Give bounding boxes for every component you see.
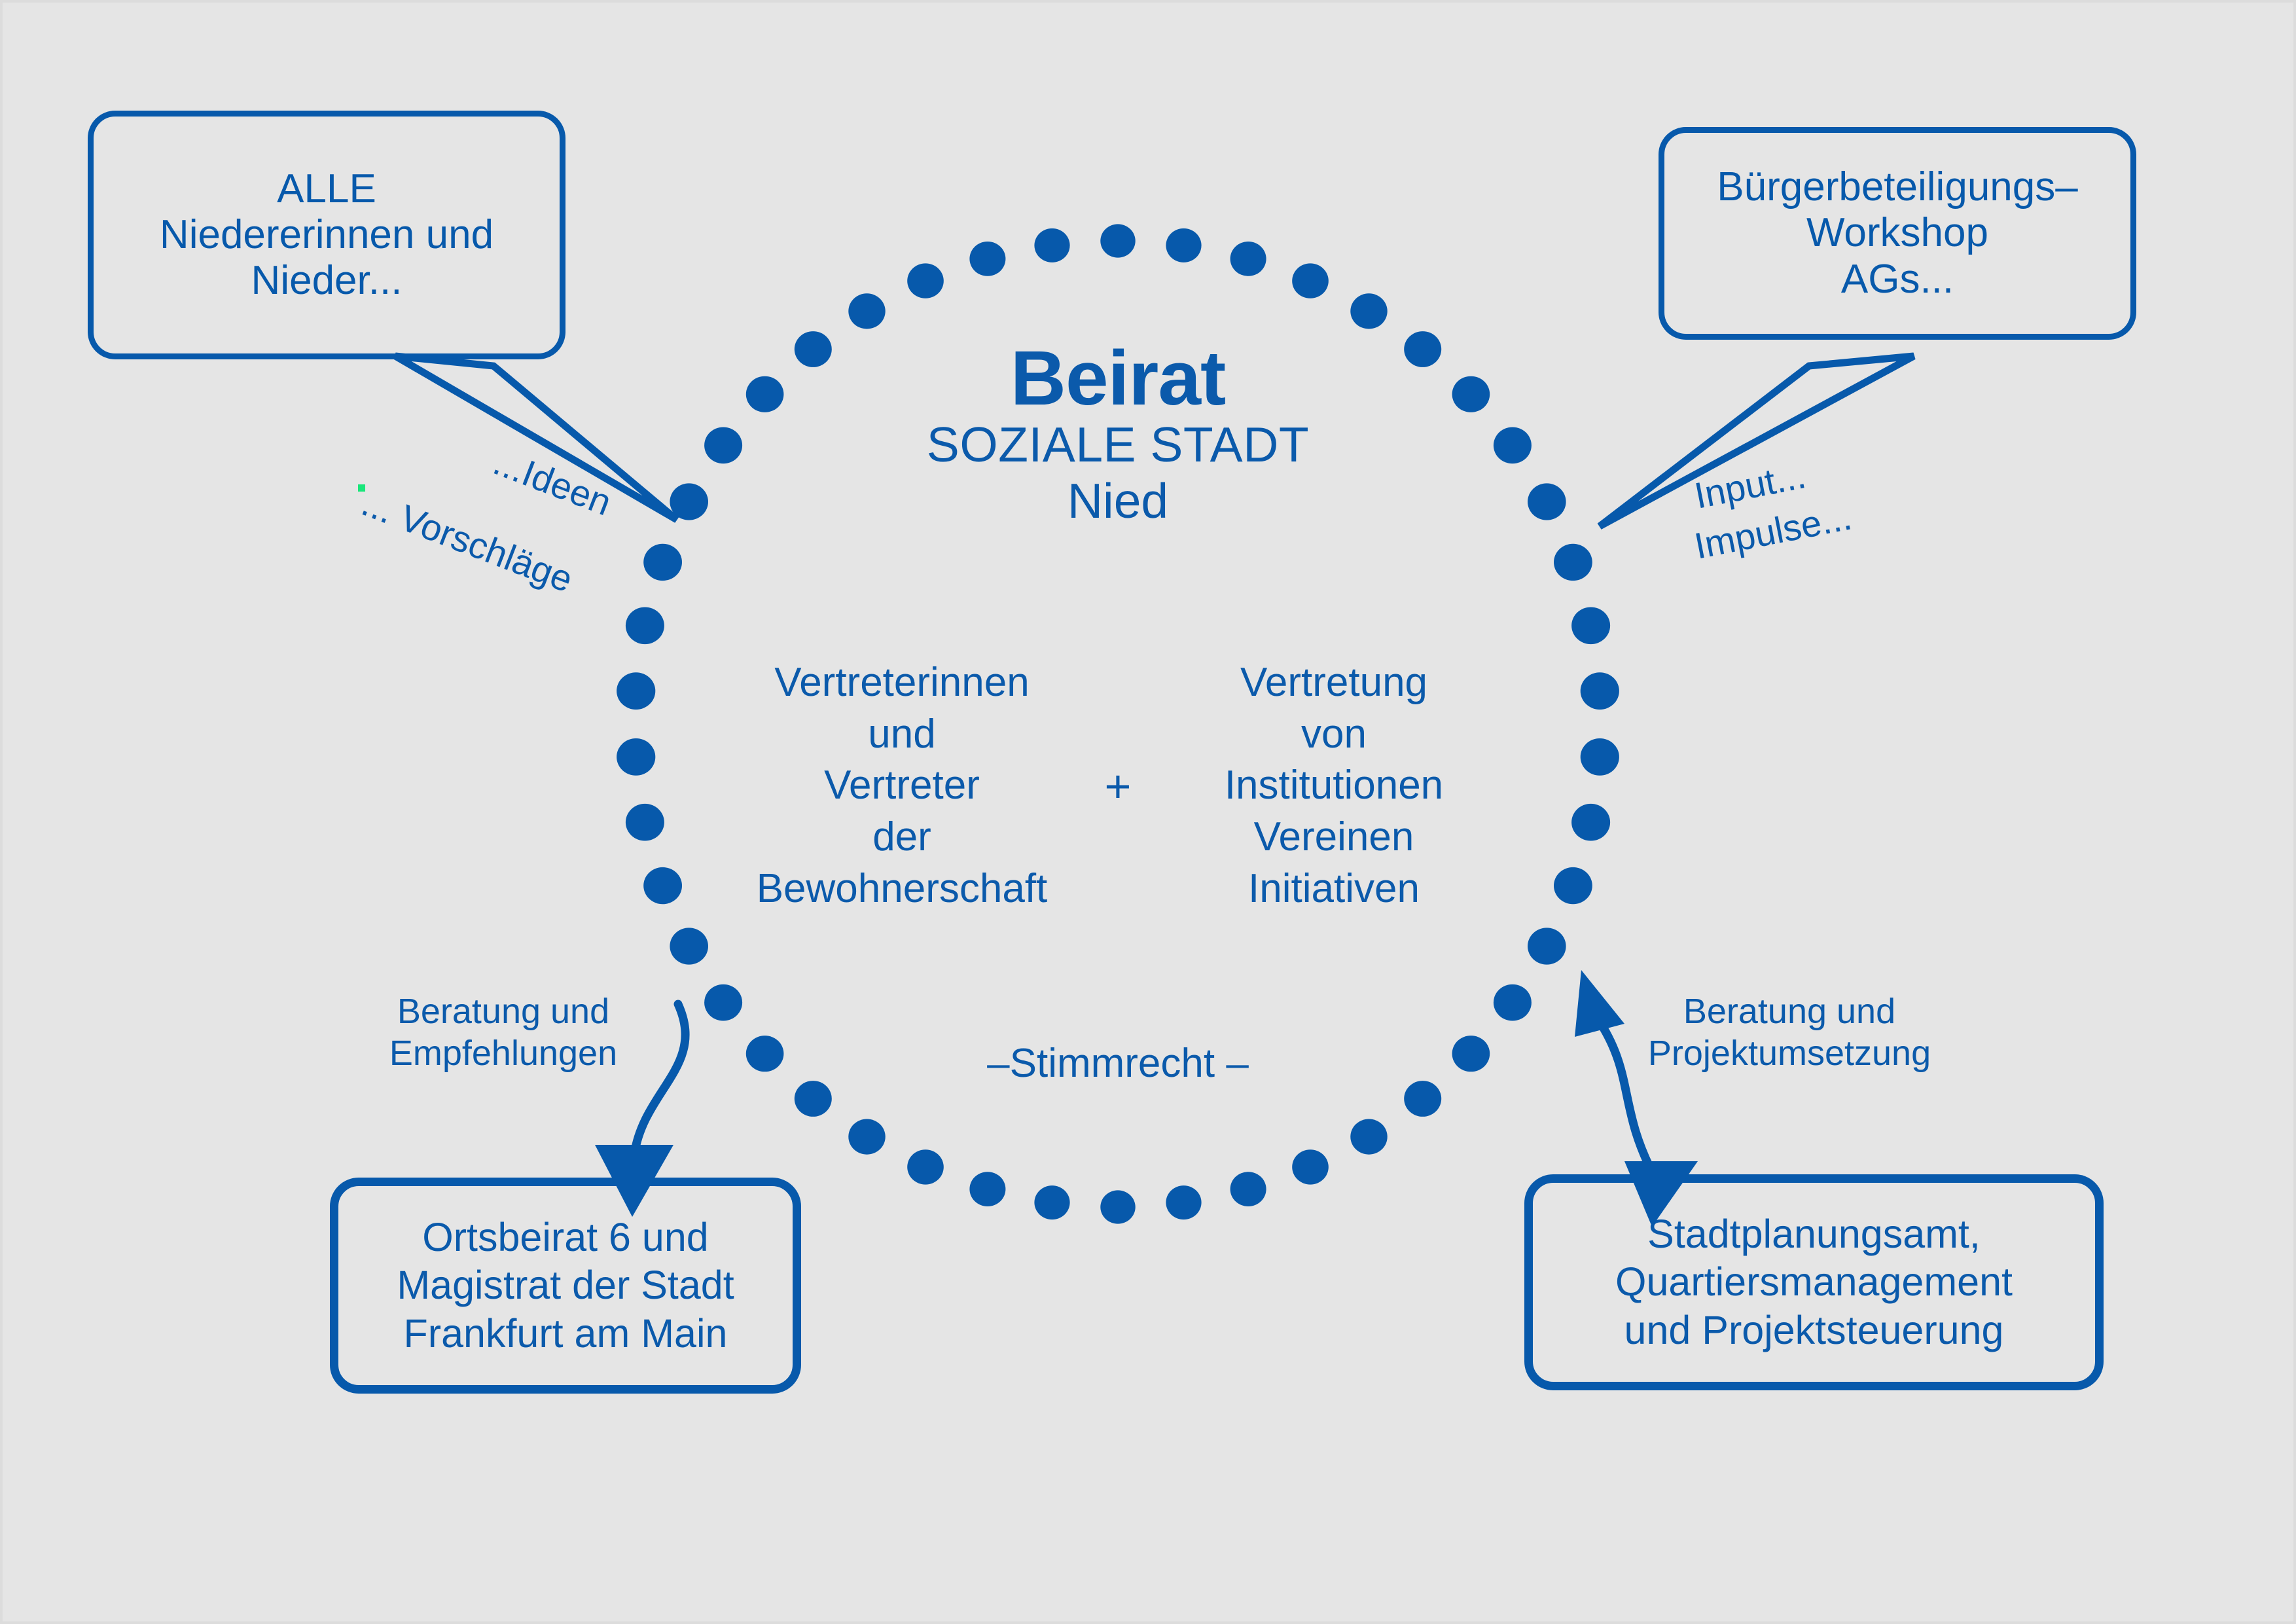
bubble-tail-top-right bbox=[1600, 356, 1914, 526]
arrow-head-down-right bbox=[1624, 1161, 1698, 1227]
arrow-head-down-left bbox=[595, 1145, 673, 1217]
arrow-head-up-right bbox=[1575, 970, 1624, 1037]
green-marker-dot bbox=[358, 484, 365, 492]
diagram-canvas: Beirat SOZIALE STADT Nied Vertreterinnen… bbox=[3, 3, 2293, 1621]
connector-graphics bbox=[3, 3, 2293, 1621]
arrow-beratung-empfehlungen bbox=[634, 1004, 685, 1155]
arrow-beratung-projektumsetzung bbox=[1601, 1024, 1653, 1174]
bubble-tail-top-left bbox=[395, 356, 677, 520]
